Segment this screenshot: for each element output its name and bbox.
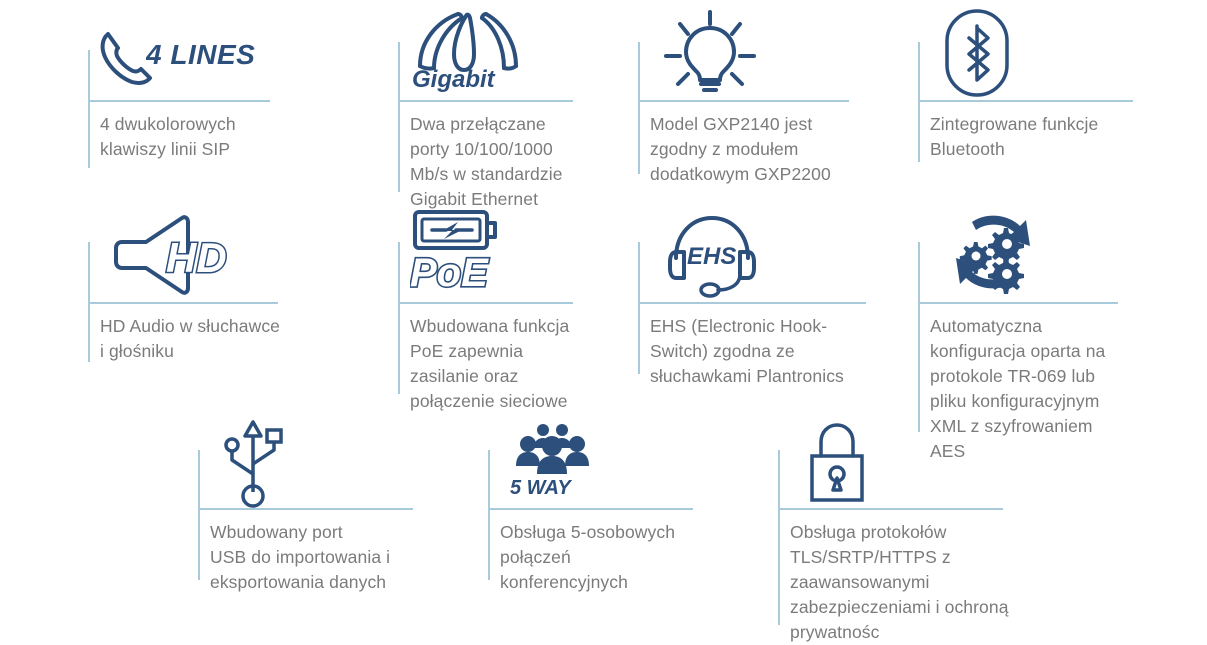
feature-caption: Wbudowana funkcja PoE zapewnia zasilanie…	[410, 314, 600, 414]
accent-vertical-rule	[488, 450, 490, 580]
feature-conference: 5 WAY Obsługa 5-osobowych połączeń konfe…	[488, 428, 703, 588]
accent-vertical-rule	[778, 450, 780, 625]
accent-horizontal-rule	[88, 100, 270, 102]
svg-text:HD: HD	[166, 234, 227, 281]
svg-text:EHS: EHS	[687, 243, 736, 270]
feature-bluetooth: Zintegrowane funkcje Bluetooth	[918, 20, 1138, 160]
feature-caption: Zintegrowane funkcje Bluetooth	[930, 112, 1145, 162]
feature-four-lines: 4 LINES 4 dwukolorowych klawiszy linii S…	[88, 30, 288, 170]
feature-icon-label: 5 WAY	[510, 472, 610, 504]
accent-horizontal-rule	[488, 508, 693, 510]
feature-expansion-module: Model GXP2140 jest zgodny z modułem doda…	[638, 20, 853, 180]
svg-text:PoE: PoE	[410, 251, 489, 295]
feature-auto-provisioning: Automatyczna konfiguracja oparta na prot…	[918, 222, 1143, 437]
accent-horizontal-rule	[198, 508, 413, 510]
accent-horizontal-rule	[918, 302, 1118, 304]
bluetooth-icon	[944, 8, 1010, 98]
feature-security: Obsługa protokołów TLS/SRTP/HTTPS z zaaw…	[778, 428, 1043, 628]
feature-icon-label: 4 LINES	[146, 36, 276, 76]
accent-vertical-rule	[638, 242, 640, 374]
accent-vertical-rule	[88, 50, 90, 168]
usb-icon	[220, 416, 286, 508]
feature-caption: Dwa przełączane porty 10/100/1000 Mb/s w…	[410, 112, 595, 212]
feature-caption: Wbudowany port USB do importowania i eks…	[210, 520, 430, 595]
accent-horizontal-rule	[638, 100, 849, 102]
accent-horizontal-rule	[88, 302, 278, 304]
feature-caption: Obsługa 5-osobowych połączeń konferencyj…	[500, 520, 715, 595]
feature-caption: HD Audio w słuchawce i głośniku	[100, 314, 315, 364]
accent-vertical-rule	[398, 42, 400, 192]
accent-vertical-rule	[638, 42, 640, 174]
feature-caption: 4 dwukolorowych klawiszy linii SIP	[100, 112, 290, 162]
feature-usb-port: Wbudowany port USB do importowania i eks…	[198, 428, 418, 588]
feature-gigabit: Gigabit Dwa przełączane porty 10/100/100…	[398, 20, 598, 200]
accent-horizontal-rule	[918, 100, 1133, 102]
feature-caption: Obsługa protokołów TLS/SRTP/HTTPS z zaaw…	[790, 520, 1055, 645]
feature-poe: PoE Wbudowana funkcja PoE zapewnia zasil…	[398, 222, 598, 402]
features-board: 4 LINES 4 dwukolorowych klawiszy linii S…	[0, 0, 1207, 633]
feature-caption: Model GXP2140 jest zgodny z modułem doda…	[650, 112, 860, 187]
feature-ehs: EHS EHS (Electronic Hook- Switch) zgodna…	[638, 222, 873, 382]
gears-cycle-icon	[938, 206, 1048, 298]
hd-speaker-icon: HD	[108, 206, 234, 298]
accent-vertical-rule	[918, 42, 920, 162]
accent-vertical-rule	[398, 242, 400, 394]
headset-icon: EHS	[662, 206, 762, 298]
svg-text:5 WAY: 5 WAY	[510, 477, 572, 499]
accent-horizontal-rule	[398, 302, 573, 304]
accent-vertical-rule	[918, 242, 920, 432]
accent-horizontal-rule	[778, 508, 1003, 510]
svg-text:Gigabit: Gigabit	[412, 66, 496, 93]
feature-caption: EHS (Electronic Hook- Switch) zgodna ze …	[650, 314, 885, 389]
accent-vertical-rule	[198, 450, 200, 580]
feature-icon-label: PoE	[410, 246, 530, 296]
accent-horizontal-rule	[638, 302, 866, 304]
feature-hd-audio: HD HD Audio w słuchawce i głośniku	[88, 222, 303, 362]
feature-icon-label: Gigabit	[412, 62, 532, 96]
lightbulb-icon	[658, 8, 762, 100]
accent-horizontal-rule	[398, 100, 573, 102]
svg-text:4 LINES: 4 LINES	[146, 39, 255, 70]
padlock-icon	[804, 420, 870, 508]
